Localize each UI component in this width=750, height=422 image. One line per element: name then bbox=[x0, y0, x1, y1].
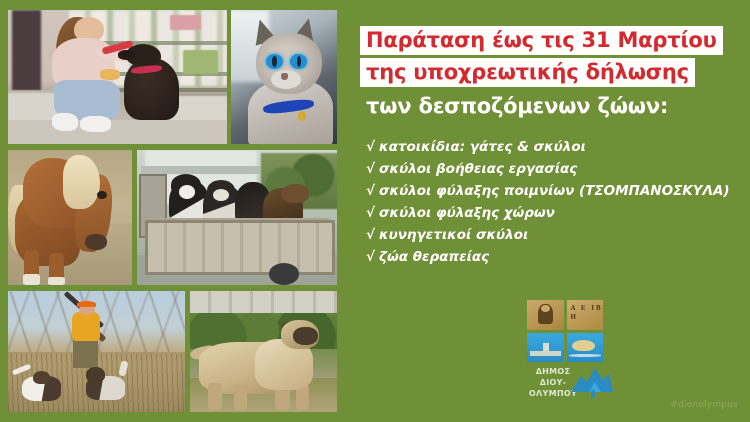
list-item: √σκύλοι φύλαξης ποιμνίων (ΤΣΟΜΠΑΝΟΣΚΥΛΑ) bbox=[366, 180, 746, 202]
photo-dogs-in-truck-bed bbox=[137, 150, 337, 285]
headline-line-2: της υποχρεωτικής δήλωσης bbox=[360, 58, 695, 87]
photo-blue-eyed-cat bbox=[231, 10, 337, 144]
crest-coast-icon bbox=[567, 333, 604, 363]
check-icon: √ bbox=[366, 158, 375, 180]
list-item-label: σκύλοι βοήθειας εργασίας bbox=[379, 161, 577, 177]
check-icon: √ bbox=[366, 224, 375, 246]
list-item: √ζώα θεραπείας bbox=[366, 246, 746, 268]
list-item: √σκύλοι φύλαξης χώρων bbox=[366, 202, 746, 224]
check-icon: √ bbox=[366, 180, 375, 202]
poster-root: Παράταση έως τις 31 Μαρτίου της υποχρεωτ… bbox=[0, 0, 750, 422]
photo-livestock-guardian-dog bbox=[190, 291, 337, 412]
list-item: √κυνηγετικοί σκύλοι bbox=[366, 224, 746, 246]
crest-saint-icon bbox=[527, 300, 564, 330]
crest-ruins-icon bbox=[527, 333, 564, 363]
check-icon: √ bbox=[366, 136, 375, 158]
mountain-icon bbox=[569, 362, 615, 398]
crest-inscription-icon: Α Ε ΙΒ Η bbox=[567, 300, 604, 330]
list-item-label: σκύλοι φύλαξης χώρων bbox=[379, 205, 555, 221]
headline-line-1: Παράταση έως τις 31 Μαρτίου bbox=[360, 26, 723, 55]
photo-collage bbox=[0, 0, 345, 422]
list-item-label: ζώα θεραπείας bbox=[379, 249, 489, 265]
logo-crest-grid: Α Ε ΙΒ Η bbox=[527, 300, 603, 362]
list-item: √σκύλοι βοήθειας εργασίας bbox=[366, 158, 746, 180]
check-icon: √ bbox=[366, 202, 375, 224]
list-item-label: κυνηγετικοί σκύλοι bbox=[379, 227, 528, 243]
check-icon: √ bbox=[366, 246, 375, 268]
municipality-logo: Α Ε ΙΒ Η ΔΗΜΟΣ ΔΙΟΥ-ΟΛΥΜΠΟΥ bbox=[515, 300, 615, 400]
photo-pony bbox=[8, 150, 132, 285]
list-item-label: σκύλοι φύλαξης ποιμνίων (ΤΣΟΜΠΑΝΟΣΚΥΛΑ) bbox=[379, 183, 730, 199]
photo-woman-with-dog-in-petshop bbox=[8, 10, 227, 144]
list-item-label: κατοικίδια: γάτες & σκύλοι bbox=[379, 139, 586, 155]
photo-hunter-with-pointers bbox=[8, 291, 185, 412]
crest-letters: Α Ε ΙΒ Η bbox=[567, 300, 604, 330]
headline-block: Παράταση έως τις 31 Μαρτίου της υποχρεωτ… bbox=[360, 26, 740, 118]
headline-line-3: των δεσποζόμενων ζώων: bbox=[360, 91, 740, 118]
bullet-list: √κατοικίδια: γάτες & σκύλοι √σκύλοι βοήθ… bbox=[366, 136, 746, 268]
list-item: √κατοικίδια: γάτες & σκύλοι bbox=[366, 136, 746, 158]
hashtag-label: #dionolympus bbox=[670, 400, 738, 410]
